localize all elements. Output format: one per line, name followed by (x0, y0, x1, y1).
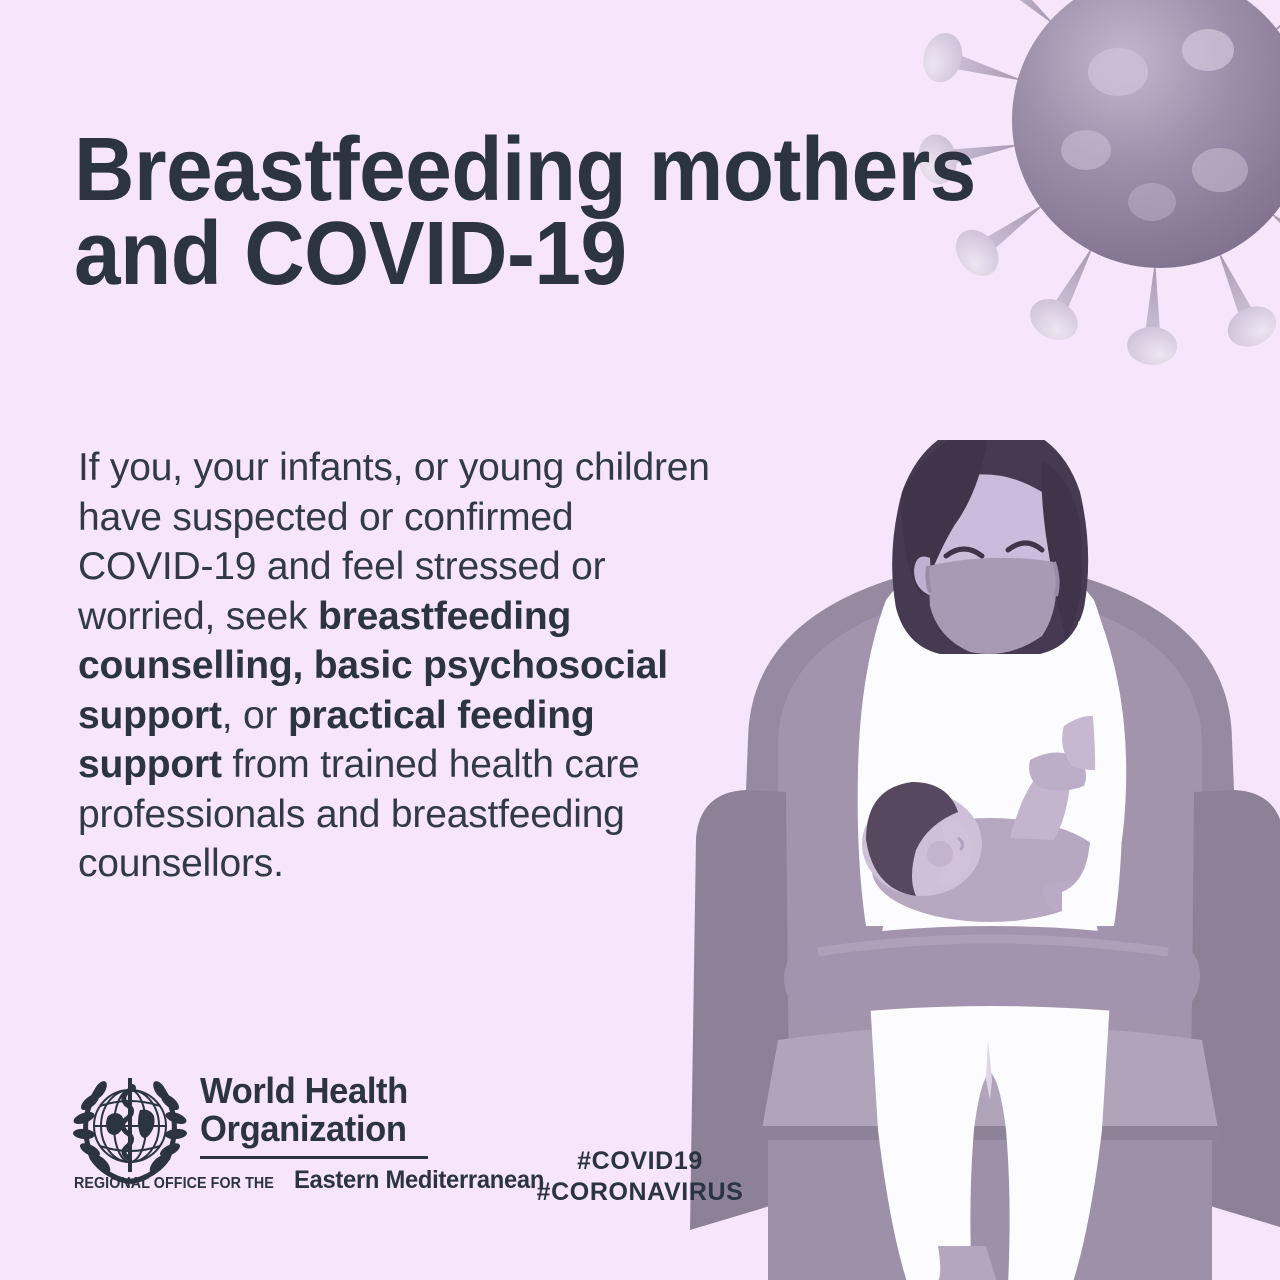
hashtag-block: #COVID19 #CORONAVIRUS (470, 1146, 810, 1208)
page-title: Breastfeeding mothers and COVID-19 (74, 129, 1084, 296)
body-paragraph: If you, your infants, or young children … (78, 443, 718, 889)
hashtag-coronavirus: #CORONAVIRUS (470, 1177, 810, 1208)
regional-office-label: REGIONAL OFFICE FOR THEEastern Mediterra… (74, 1166, 430, 1195)
headline-line-1: Breastfeeding mothers (74, 129, 1013, 213)
who-name-line-2: Organization (200, 1110, 421, 1148)
headline-line-2: and COVID-19 (74, 213, 1013, 297)
body-text-part-2: , or (222, 694, 288, 737)
regional-office-prefix: REGIONAL OFFICE FOR THE (74, 1175, 274, 1193)
poster-canvas: Breastfeeding mothers and COVID-19 If yo… (0, 0, 1280, 1280)
hashtag-covid19: #COVID19 (470, 1146, 810, 1177)
who-wordmark: World Health Organization (200, 1072, 430, 1148)
who-name-line-1: World Health (200, 1072, 421, 1110)
logo-divider (200, 1156, 428, 1159)
